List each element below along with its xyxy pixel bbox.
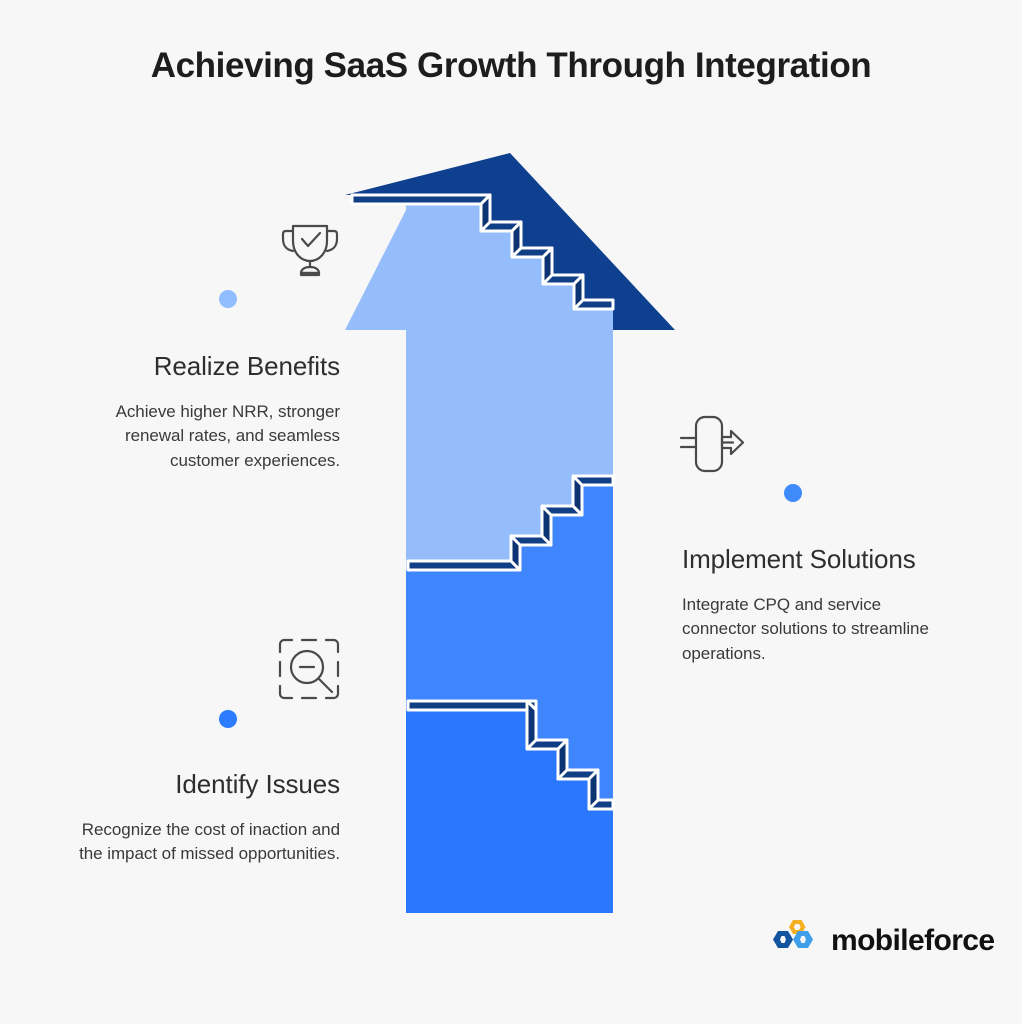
step-block-identify-issues: Identify Issues Recognize the cost of in… [56, 769, 340, 867]
process-arrow-icon [679, 411, 745, 482]
step-body-identify-issues: Recognize the cost of inaction and the i… [56, 818, 340, 867]
step-block-realize-benefits: Realize Benefits Achieve higher NRR, str… [56, 351, 340, 474]
page-title: Achieving SaaS Growth Through Integratio… [0, 46, 1022, 86]
brand-logo-text: mobileforce [831, 924, 994, 958]
step-heading-implement-solutions: Implement Solutions [682, 544, 932, 576]
brand-logo: mobileforce [772, 918, 994, 963]
step-heading-identify-issues: Identify Issues [56, 769, 340, 801]
decorative-dot-lower-left [219, 710, 237, 728]
decorative-dot-right [784, 484, 802, 502]
step-body-implement-solutions: Integrate CPQ and service connector solu… [682, 593, 932, 667]
infographic-canvas: Achieving SaaS Growth Through Integratio… [0, 0, 1022, 1024]
step-block-implement-solutions: Implement Solutions Integrate CPQ and se… [682, 544, 932, 667]
step-body-realize-benefits: Achieve higher NRR, stronger renewal rat… [56, 400, 340, 474]
step-heading-realize-benefits: Realize Benefits [56, 351, 340, 383]
trophy-check-icon [276, 215, 344, 288]
mobileforce-hexagon-mark [772, 918, 822, 963]
growth-arrow-graphic [330, 140, 694, 930]
magnifier-zoom-out-icon [276, 636, 342, 707]
decorative-dot-upper-left [219, 290, 237, 308]
